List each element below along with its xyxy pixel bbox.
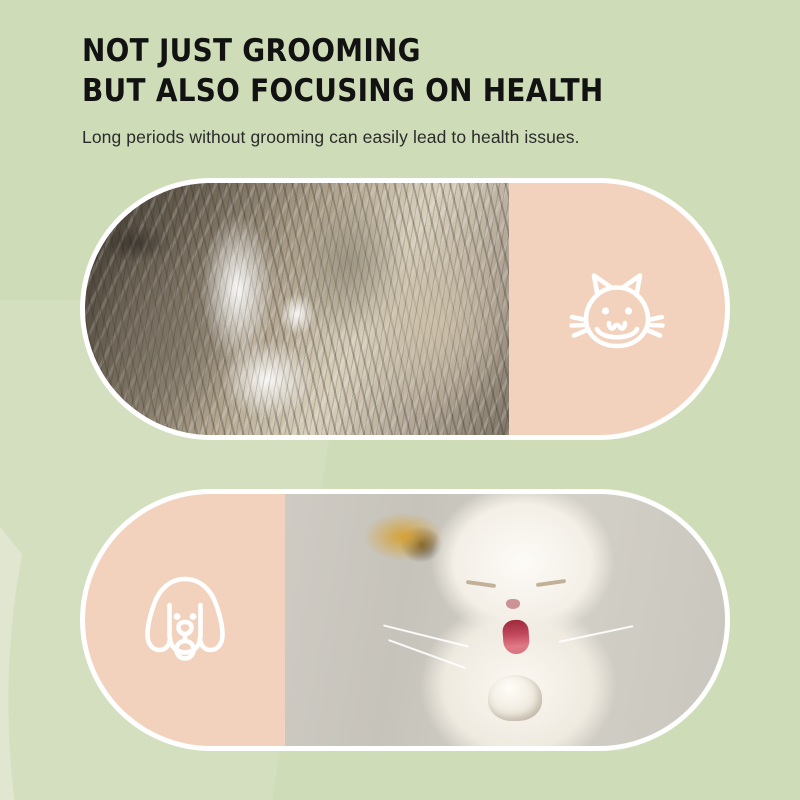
dog-face-icon — [138, 571, 232, 669]
page-title: NOT JUST GROOMING BUT ALSO FOCUSING ON H… — [82, 32, 742, 111]
cat-face-icon — [565, 263, 669, 355]
poster-canvas: NOT JUST GROOMING BUT ALSO FOCUSING ON H… — [0, 0, 800, 800]
cat-photo-eye-right — [536, 579, 566, 587]
page-title-line1: NOT JUST GROOMING — [82, 33, 421, 69]
header: NOT JUST GROOMING BUT ALSO FOCUSING ON H… — [82, 32, 742, 148]
cat-photo-nose — [506, 599, 520, 609]
card-grooming-fur — [80, 178, 730, 440]
photo-matted-fur — [85, 183, 509, 435]
cat-photo-eye-left — [465, 580, 495, 588]
cat-photo-whisker-1 — [383, 624, 469, 647]
photo-matted-fur-image — [85, 183, 509, 435]
cat-photo-whisker-3 — [559, 625, 634, 642]
page-subtitle: Long periods without grooming can easily… — [82, 127, 742, 148]
photo-cat-hairball-image — [285, 494, 725, 746]
dog-icon-panel — [85, 494, 285, 746]
card-top-inner — [85, 183, 725, 435]
cat-photo-paw — [488, 675, 542, 721]
cat-icon-panel — [509, 183, 725, 435]
page-title-line2: BUT ALSO FOCUSING ON HEALTH — [82, 72, 742, 112]
cat-photo-mouth — [502, 619, 530, 655]
card-health-hairball — [80, 489, 730, 751]
photo-cat-hairball — [285, 494, 725, 746]
card-bottom-inner — [85, 494, 725, 746]
